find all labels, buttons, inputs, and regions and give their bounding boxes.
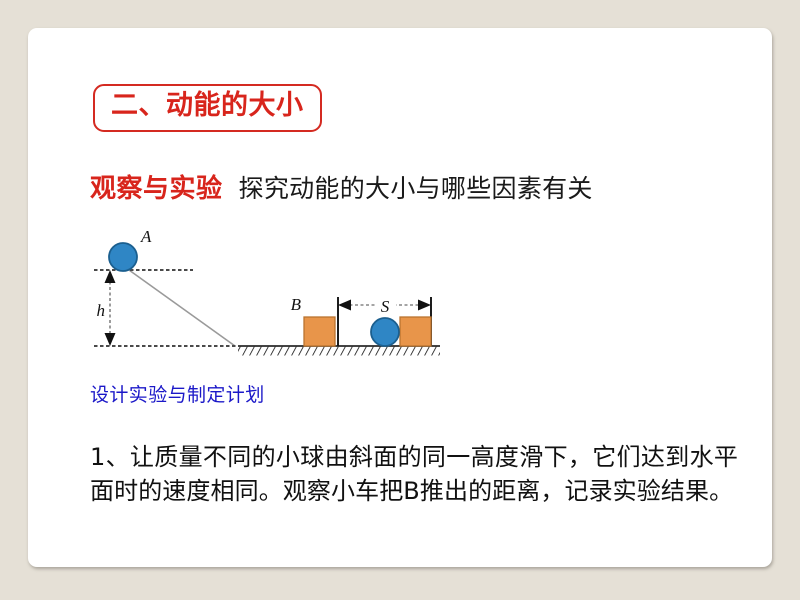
section-title-text: 二、动能的大小 — [111, 90, 304, 123]
experiment-diagram-svg: h A B S — [88, 224, 488, 364]
distance-s-arrow-left — [338, 300, 351, 311]
ball-a — [109, 243, 137, 271]
distance-s-label: S — [381, 297, 390, 316]
observation-heading-row: 观察与实验 探究动能的大小与哪些因素有关 — [90, 168, 593, 205]
block-b-label: B — [291, 295, 302, 314]
distance-s-arrow-right — [418, 300, 431, 311]
observation-topic: 探究动能的大小与哪些因素有关 — [239, 169, 593, 205]
observation-label: 观察与实验 — [90, 168, 223, 205]
slide-panel: 二、动能的大小 观察与实验 探究动能的大小与哪些因素有关 — [28, 28, 772, 567]
height-arrow-up — [105, 270, 116, 283]
design-plan-heading: 设计实验与制定计划 — [90, 380, 265, 407]
height-arrow-down — [105, 333, 116, 346]
ball-a-label: A — [140, 227, 152, 246]
block-b — [304, 317, 335, 346]
block-pushed — [400, 317, 431, 346]
section-title-box: 二、动能的大小 — [93, 84, 322, 132]
ground-hatching — [238, 347, 440, 356]
ball-rolling — [371, 318, 399, 346]
height-label: h — [97, 301, 106, 320]
body-paragraph: 1、让质量不同的小球由斜面的同一高度滑下，它们达到水平面时的速度相同。观察小车把… — [90, 440, 738, 508]
experiment-diagram: h A B S — [88, 224, 488, 364]
incline-slope-line — [129, 270, 235, 346]
